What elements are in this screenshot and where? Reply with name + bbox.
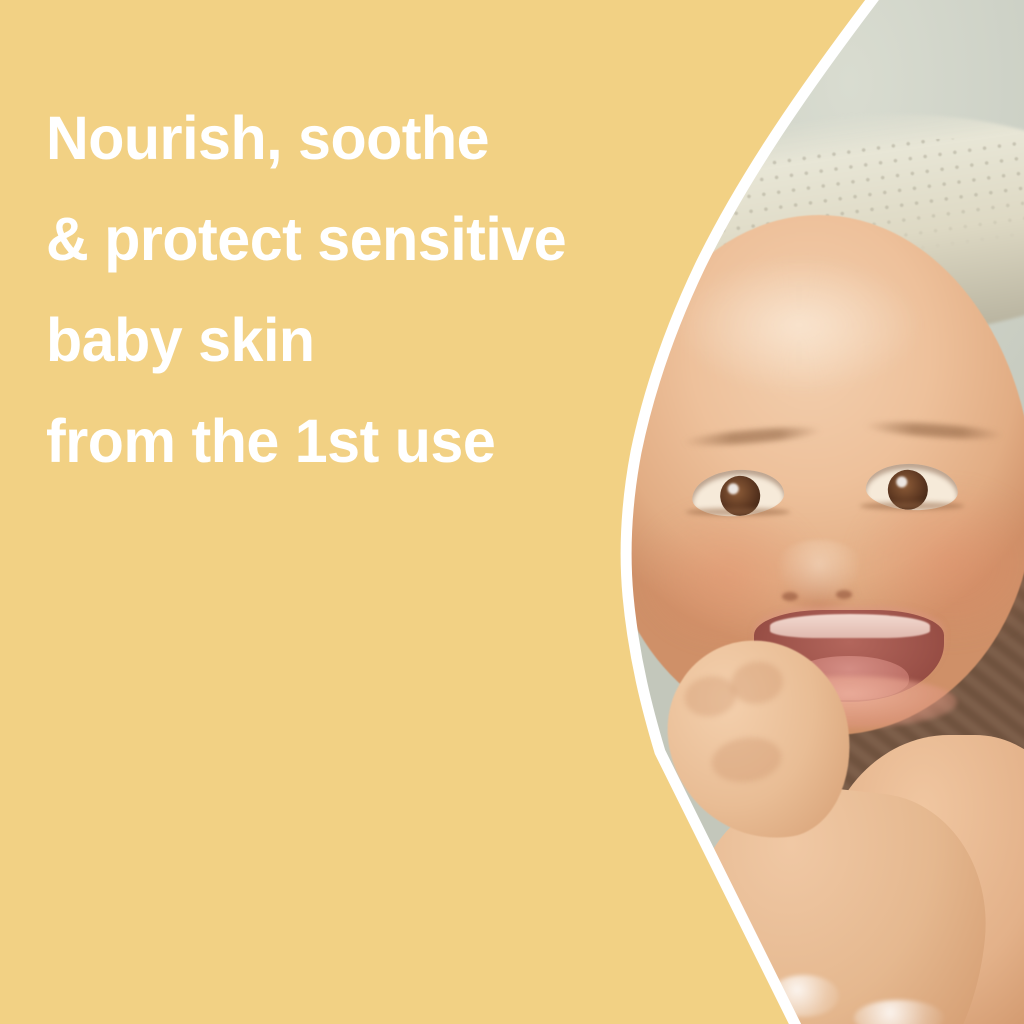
baby-photo: [564, 0, 1024, 1024]
promo-banner: Nourish, soothe & protect sensitive baby…: [0, 0, 1024, 1024]
honeycomb-edge-e: [128, 938, 270, 1024]
bath-suds: [769, 975, 839, 1017]
honeycomb-edge-h: [280, 900, 320, 1012]
honeycomb-edge-b: [310, 870, 452, 935]
nostril-right: [836, 590, 852, 599]
oat-filled-hexagon: [84, 606, 284, 782]
honeycomb-edge-g: [30, 938, 168, 1002]
honeycomb-edge-f: [130, 938, 168, 1000]
honeycomb-edge-i: [452, 935, 548, 1000]
honeycomb-edge-a: [244, 782, 310, 870]
oat-flake: [371, 694, 428, 730]
honeycomb-edge-j: [480, 960, 520, 1020]
lower-eyelid-right: [860, 502, 964, 510]
lower-eyelid-left: [686, 508, 790, 516]
gum: [770, 614, 930, 638]
nostril-left: [782, 592, 798, 601]
hexagon-outline: [84, 606, 284, 782]
knuckle: [709, 733, 784, 786]
oat-flake: [379, 645, 436, 685]
knuckle: [728, 658, 785, 707]
honeycomb-stem-top: [244, 524, 274, 608]
honeycomb-edge-c: [420, 935, 452, 1024]
honeycomb-edge-d: [270, 870, 310, 1000]
forehead-highlight: [674, 255, 924, 395]
